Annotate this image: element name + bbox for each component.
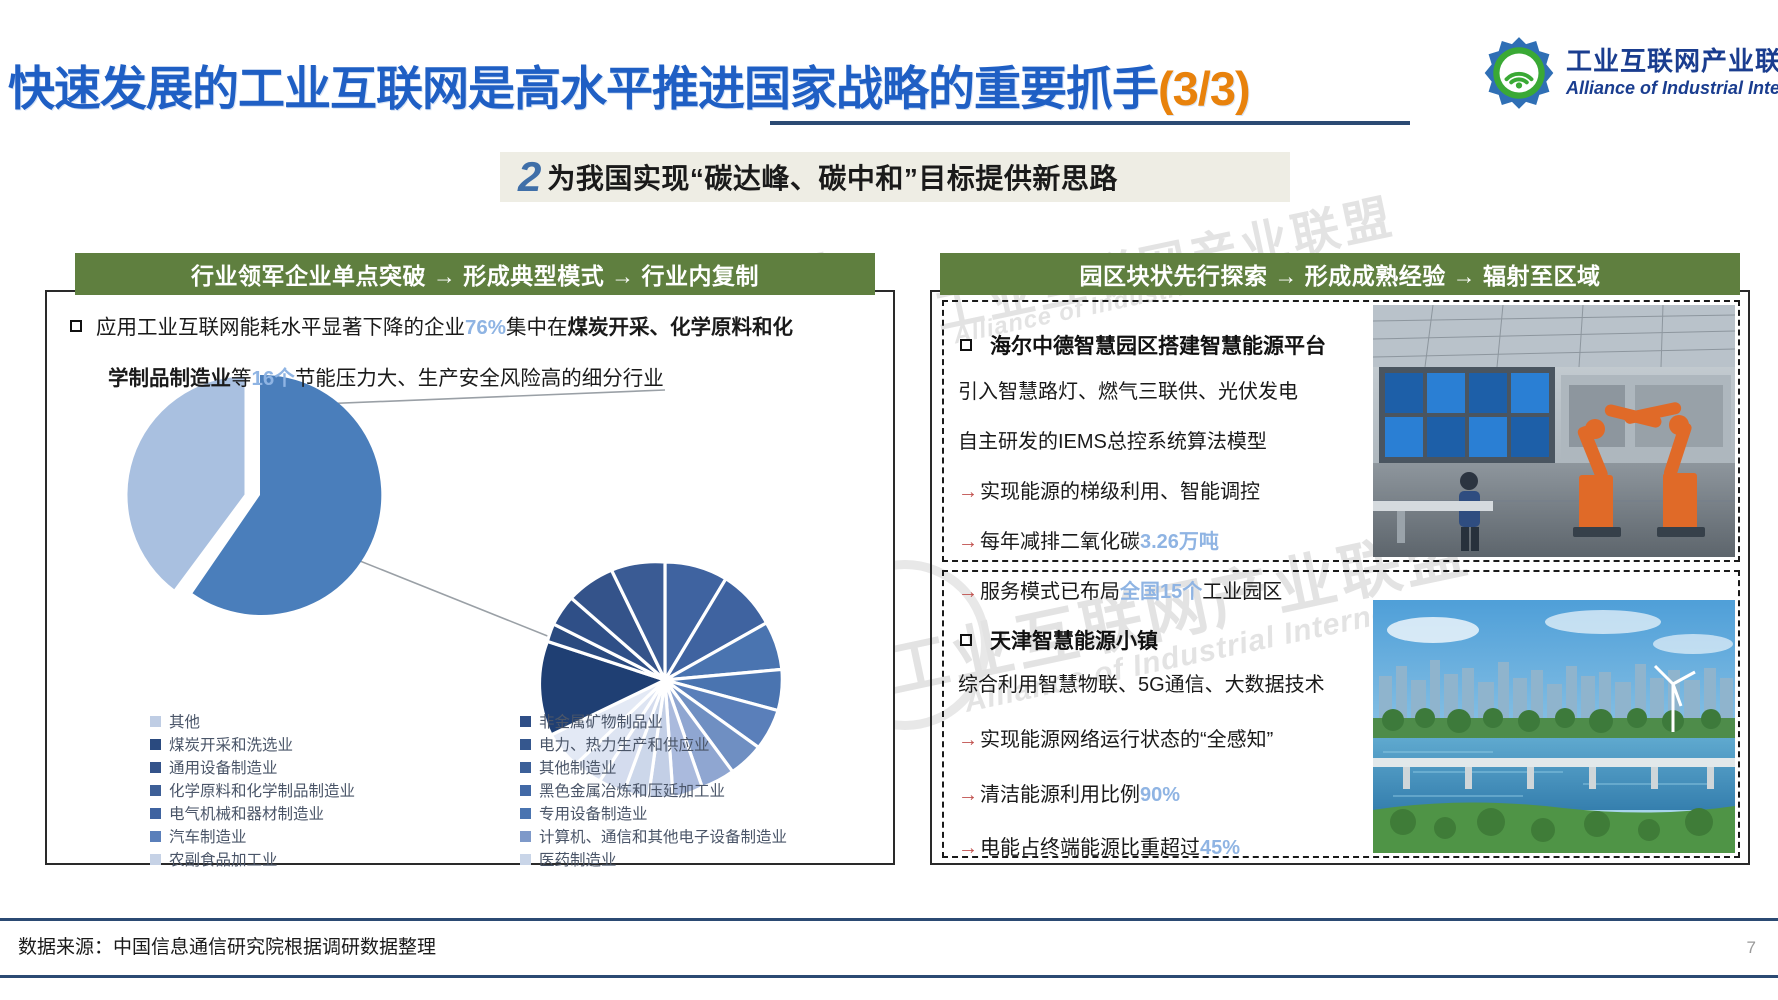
left-panel-header: 行业领军企业单点突破 → 形成典型模式 → 行业内复制 [75,253,875,295]
legend-swatch-icon [520,808,531,819]
title-underline [770,121,1410,125]
legend-label: 医药制造业 [539,848,617,870]
chart-legend: 其他 煤炭开采和洗选业 通用设备制造业 化学原料和化学制品制造业 电气机械和器材… [150,710,787,870]
legend-item: 农副食品加工业 [150,848,355,870]
page-title: 快速发展的工业互联网是高水平推进国家战略的重要抓手(3/3) [8,50,1250,119]
case-bottom-line-4-highlight: 45% [1200,837,1240,859]
legend-swatch-icon [150,808,161,819]
legend-label: 专用设备制造业 [539,802,648,824]
legend-swatch-icon [520,785,531,796]
bullet-line2-bold: 学制品制造业 [108,367,231,390]
legend-label: 通用设备制造业 [169,756,278,778]
section-number: 2 [518,156,541,198]
section-subtitle-text: 为我国实现“碳达峰、碳中和”目标提供新思路 [547,157,1118,197]
footer-divider-bottom [0,975,1778,978]
legend-label: 汽车制造业 [169,825,247,847]
legend-item: 黑色金属冶炼和压延加工业 [520,779,787,801]
footer-divider-top [0,918,1778,921]
section-subtitle-banner: 2 为我国实现“碳达峰、碳中和”目标提供新思路 [500,152,1290,202]
case-top-line-4: →每年减排二氧化碳3.26万吨 [958,532,1219,552]
legend-swatch-icon [520,716,531,727]
smart-energy-town-aerial-photo [1373,600,1735,853]
legend-item: 化学原料和化学制品制造业 [150,779,355,801]
legend-item: 其他制造业 [520,756,787,778]
case-bottom-title-row: 天津智慧能源小镇 [960,625,1158,655]
gear-wifi-logo-icon [1480,34,1558,112]
bullet-line-2: 学制品制造业等16个节能压力大、生产安全风险高的细分行业 [108,369,870,390]
case-top-line-3: →实现能源的梯级利用、智能调控 [958,482,1260,502]
legend-swatch-icon [150,854,161,865]
bullet-line1-bold: 煤炭开采、化学原料和化 [568,316,794,339]
case-top-line-2-text: 自主研发的IEMS总控系统算法模型 [958,431,1267,453]
case-top-line-5-text: 服务模式已布局 [980,581,1120,603]
bullet-line1-highlight: 76% [465,316,506,339]
legend-swatch-icon [520,854,531,865]
arrow-icon: → [958,531,978,553]
legend-swatch-icon [150,739,161,750]
case-top-line-5-highlight: 全国15个 [1120,581,1202,603]
arrow-icon: → [958,784,978,806]
right-panel-header-text: 园区块状先行探索 → 形成成熟经验 → 辐射至区域 [1079,257,1600,291]
bullet-line-1: 应用工业互联网能耗水平显著下降的企业76%集中在煤炭开采、化学原料和化 [70,318,870,339]
alliance-logo: 工业互联网产业联盟 Alliance of Industrial Interne… [1480,30,1770,116]
arrow-icon: → [958,481,978,503]
legend-swatch-icon [520,762,531,773]
case-top-line-1-text: 引入智慧路灯、燃气三联供、光伏发电 [958,381,1298,403]
case-bottom-line-1: 综合利用智慧物联、5G通信、大数据技术 [958,675,1325,695]
case-bottom-title: 天津智慧能源小镇 [990,625,1158,655]
legend-column-right: 非金属矿物制品业 电力、热力生产和供应业 其他制造业 黑色金属冶炼和压延加工业 … [520,710,787,870]
legend-item: 专用设备制造业 [520,802,787,824]
legend-item: 汽车制造业 [150,825,355,847]
legend-item: 电气机械和器材制造业 [150,802,355,824]
factory-robot-arms-photo [1373,305,1735,557]
page-number: 7 [1747,938,1756,958]
case-top-line-1: 引入智慧路灯、燃气三联供、光伏发电 [958,382,1298,402]
source-note: 数据来源：中国信息通信研究院根据调研数据整理 [18,932,436,959]
legend-swatch-icon [150,762,161,773]
page-title-main: 快速发展的工业互联网是高水平推进国家战略的重要抓手 [8,62,1158,115]
bullet-square-icon [70,320,82,332]
case-bottom-line-2: →实现能源网络运行状态的“全感知” [958,730,1273,750]
legend-swatch-icon [150,785,161,796]
arrow-icon: → [958,837,978,859]
bullet-line1-a: 应用工业互联网能耗水平显著下降的企业 [96,316,465,339]
case-bullet-square-icon [960,634,972,646]
case-bottom-line-3-highlight: 90% [1140,784,1180,806]
legend-label: 非金属矿物制品业 [539,710,663,732]
bullet-line1-b: 集中在 [506,316,568,339]
legend-column-left: 其他 煤炭开采和洗选业 通用设备制造业 化学原料和化学制品制造业 电气机械和器材… [150,710,355,870]
legend-label: 电气机械和器材制造业 [169,802,324,824]
case-bottom-line-3-text: 清洁能源利用比例 [980,784,1140,806]
legend-swatch-icon [520,739,531,750]
left-panel-header-text: 行业领军企业单点突破 → 形成典型模式 → 行业内复制 [191,257,759,291]
right-panel-header: 园区块状先行探索 → 形成成熟经验 → 辐射至区域 [940,253,1740,295]
legend-label: 其他 [169,710,200,732]
case-top-line-4-text: 每年减排二氧化碳 [980,531,1140,553]
legend-label: 化学原料和化学制品制造业 [169,779,355,801]
case-bullet-square-icon [960,339,972,351]
legend-item: 煤炭开采和洗选业 [150,733,355,755]
case-bottom-line-2-text: 实现能源网络运行状态的“全感知” [980,729,1273,751]
case-top-title-row: 海尔中德智慧园区搭建智慧能源平台 [960,330,1326,360]
case-top-title: 海尔中德智慧园区搭建智慧能源平台 [990,330,1326,360]
legend-label: 计算机、通信和其他电子设备制造业 [539,825,787,847]
legend-label: 农副食品加工业 [169,848,278,870]
case-bottom-line-4-text: 电能占终端能源比重超过 [980,837,1200,859]
legend-label: 黑色金属冶炼和压延加工业 [539,779,725,801]
case-top-line-2: 自主研发的IEMS总控系统算法模型 [958,432,1267,452]
page-title-fraction: (3/3) [1158,62,1250,115]
legend-item: 电力、热力生产和供应业 [520,733,787,755]
bullet-line2-b: 节能压力大、生产安全风险高的细分行业 [295,367,664,390]
case-top-line-3-text: 实现能源的梯级利用、智能调控 [980,481,1260,503]
legend-label: 煤炭开采和洗选业 [169,733,293,755]
bullet-line2-highlight: 16个 [252,367,295,390]
bullet-line2-a: 等 [231,367,252,390]
legend-swatch-icon [150,716,161,727]
arrow-icon: → [958,581,978,603]
legend-item: 计算机、通信和其他电子设备制造业 [520,825,787,847]
legend-item: 其他 [150,710,355,732]
logo-text-en: Alliance of Industrial Internet [1566,79,1778,98]
legend-item: 通用设备制造业 [150,756,355,778]
legend-label: 其他制造业 [539,756,617,778]
arrow-icon: → [958,729,978,751]
legend-item: 非金属矿物制品业 [520,710,787,732]
case-bottom-line-1-text: 综合利用智慧物联、5G通信、大数据技术 [958,674,1325,696]
case-bottom-line-3: →清洁能源利用比例90% [958,785,1180,805]
legend-label: 电力、热力生产和供应业 [539,733,710,755]
left-panel-bullet: 应用工业互联网能耗水平显著下降的企业76%集中在煤炭开采、化学原料和化 学制品制… [70,318,870,389]
legend-swatch-icon [520,831,531,842]
logo-text-cn: 工业互联网产业联盟 [1566,48,1778,75]
case-top-line-4-highlight: 3.26万吨 [1140,531,1219,553]
legend-item: 医药制造业 [520,848,787,870]
case-top-line-5: →服务模式已布局全国15个工业园区 [958,582,1282,602]
case-top-line-5-tail: 工业园区 [1202,581,1282,603]
slide-canvas: 工业互联网产业联盟 Alliance of Industrial Interne… [0,0,1778,1000]
case-bottom-line-4: →电能占终端能源比重超过45% [958,838,1240,858]
legend-swatch-icon [150,831,161,842]
